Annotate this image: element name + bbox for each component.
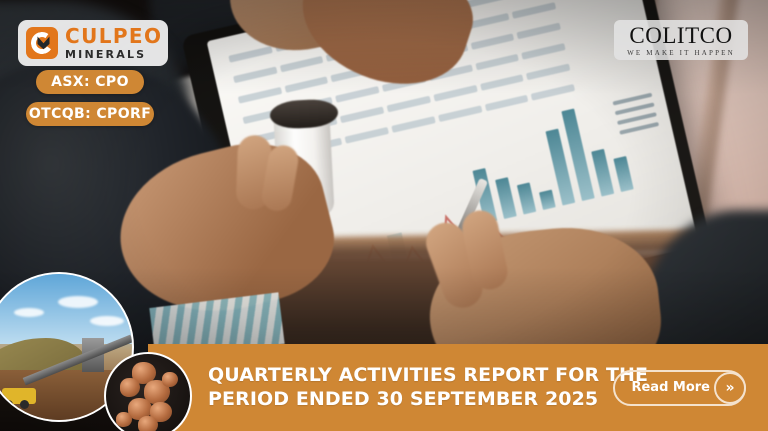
headline-banner: QUARTERLY ACTIVITIES REPORT FOR THE PERI… xyxy=(148,344,768,431)
culpeo-name: CULPEO xyxy=(65,26,162,46)
ticker-badge-otcqb[interactable]: OTCQB: CPORF xyxy=(26,102,154,126)
culpeo-wordmark: CULPEO MINERALS xyxy=(65,26,162,60)
colitco-logo[interactable]: COLITCO WE MAKE IT HAPPEN xyxy=(614,20,748,60)
ticker-badge-asx[interactable]: ASX: CPO xyxy=(36,70,144,94)
news-card-banner: CULPEO MINERALS ASX: CPO OTCQB: CPORF CO… xyxy=(0,0,768,431)
culpeo-fox-mark-icon xyxy=(26,27,58,59)
read-more-button[interactable]: Read More » xyxy=(613,370,746,406)
read-more-label: Read More xyxy=(631,380,710,395)
copper-ore-photo xyxy=(104,352,192,431)
chevron-mark-icon xyxy=(36,35,51,50)
culpeo-subname: MINERALS xyxy=(65,49,162,60)
double-chevron-right-icon: » xyxy=(714,372,746,404)
colitco-name: COLITCO xyxy=(629,24,732,47)
colitco-tagline: WE MAKE IT HAPPEN xyxy=(627,49,735,57)
headline-text: QUARTERLY ACTIVITIES REPORT FOR THE PERI… xyxy=(208,364,658,410)
culpeo-logo[interactable]: CULPEO MINERALS xyxy=(18,20,168,66)
